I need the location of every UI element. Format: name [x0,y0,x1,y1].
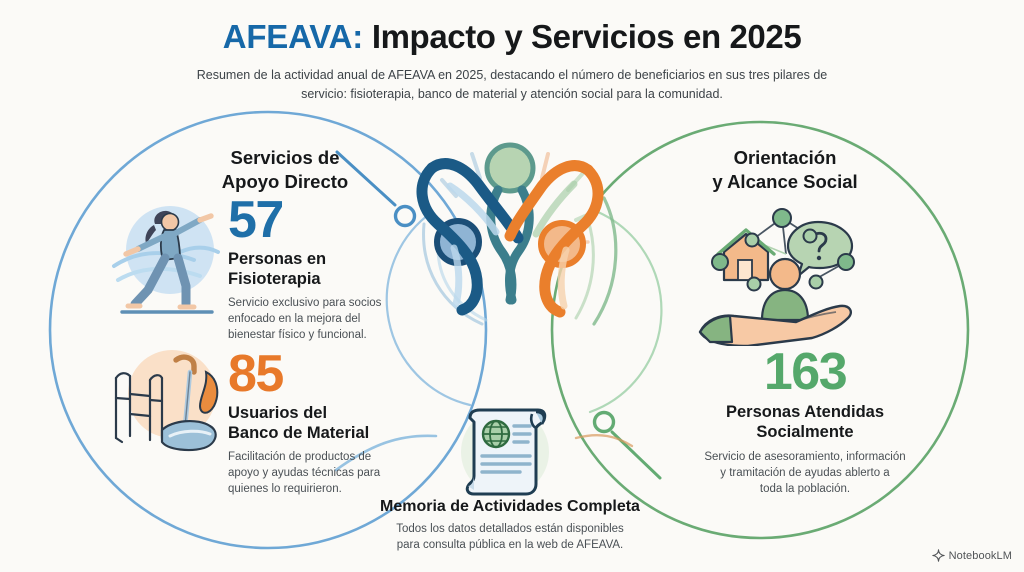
document-scroll-globe-icon [448,406,562,500]
stat-fisioterapia-number: 57 [228,196,408,246]
notebooklm-watermark: NotebookLM [932,549,1012,562]
page-subtitle: Resumen de la actividad anual de AFEAVA … [192,66,832,104]
stat-banco-material: 85 Usuarios del Banco de Material Facili… [228,350,418,497]
stat-banco-number: 85 [228,350,418,400]
stat-fisioterapia: 57 Personas en Fisioterapia Servicio exc… [228,196,408,343]
infographic-canvas: AFEAVA: Impacto y Servicios en 2025 Resu… [0,0,1024,572]
right-connector-node [595,413,614,432]
footer-memoria-block: Memoria de Actividades Completa Todos lo… [355,498,665,554]
watermark-text: NotebookLM [949,550,1012,562]
stat-social-number: 163 [660,348,950,398]
brand-name: AFEAVA: [223,18,363,55]
three-abstract-human-figures-logo [398,128,632,340]
title-rest: Impacto y Servicios en 2025 [363,18,801,55]
left-section-heading: Servicios de Apoyo Directo [145,146,425,193]
stat-social-description: Servicio de asesoramiento, información y… [660,449,950,498]
stat-atencion-social: 163 Personas Atendidas Socialmente Servi… [660,348,950,497]
mobility-aids-icon [106,338,228,456]
right-section-heading: Orientación y Alcance Social [640,146,930,193]
notebooklm-spark-icon [932,549,945,562]
stat-banco-description: Facilitación de productos de apoyo y ayu… [228,449,418,498]
hand-holding-community-network-icon [690,196,880,346]
physiotherapy-stretching-icon [108,194,226,322]
stat-banco-label: Usuarios del Banco de Material [228,404,418,444]
stat-fisioterapia-description: Servicio exclusivo para socios enfocado … [228,295,408,344]
stat-social-label: Personas Atendidas Socialmente [660,403,950,443]
stat-fisioterapia-label: Personas en Fisioterapia [228,250,408,290]
page-title: AFEAVA: Impacto y Servicios en 2025 [0,18,1024,56]
footer-description: Todos los datos detallados están disponi… [355,521,665,554]
header: AFEAVA: Impacto y Servicios en 2025 Resu… [0,18,1024,103]
footer-title: Memoria de Actividades Completa [355,498,665,516]
